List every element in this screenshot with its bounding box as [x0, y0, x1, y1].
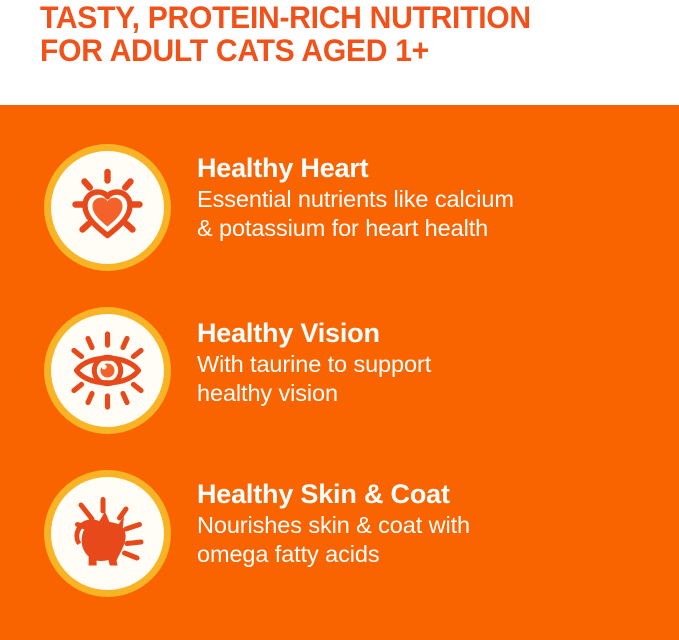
badge-healthy-vision: [44, 307, 171, 434]
feature-copy: Healthy Heart Essential nutrients like c…: [197, 151, 657, 243]
feature-row-healthy-vision: Healthy Vision With taurine to support h…: [0, 304, 679, 444]
benefits-panel: Healthy Heart Essential nutrients like c…: [0, 105, 679, 640]
feature-title: Healthy Skin & Coat: [197, 477, 657, 511]
page-title-line-2: FOR ADULT CATS AGED 1+: [40, 34, 632, 67]
badge-healthy-heart: [44, 144, 171, 271]
cat-radiating-icon: [51, 477, 164, 590]
page-title: TASTY, PROTEIN-RICH NUTRITION FOR ADULT …: [40, 1, 660, 67]
heart-radiating-icon: [51, 151, 164, 264]
feature-title: Healthy Vision: [197, 316, 657, 350]
eye-radiating-icon: [51, 314, 164, 427]
badge-healthy-skin-and-coat: [44, 470, 171, 597]
nutrition-benefits-infographic: TASTY, PROTEIN-RICH NUTRITION FOR ADULT …: [0, 0, 679, 640]
page-title-line-1: TASTY, PROTEIN-RICH NUTRITION: [40, 1, 632, 34]
feature-copy: Healthy Vision With taurine to support h…: [197, 316, 657, 408]
feature-title: Healthy Heart: [197, 151, 657, 185]
feature-copy: Healthy Skin & Coat Nourishes skin & coa…: [197, 477, 657, 569]
feature-description: Essential nutrients like calcium & potas…: [197, 185, 657, 243]
header-band: TASTY, PROTEIN-RICH NUTRITION FOR ADULT …: [0, 0, 679, 105]
feature-description: With taurine to support healthy vision: [197, 350, 657, 408]
feature-row-healthy-skin-and-coat: Healthy Skin & Coat Nourishes skin & coa…: [0, 467, 679, 607]
feature-row-healthy-heart: Healthy Heart Essential nutrients like c…: [0, 141, 679, 281]
feature-description: Nourishes skin & coat with omega fatty a…: [197, 511, 657, 569]
